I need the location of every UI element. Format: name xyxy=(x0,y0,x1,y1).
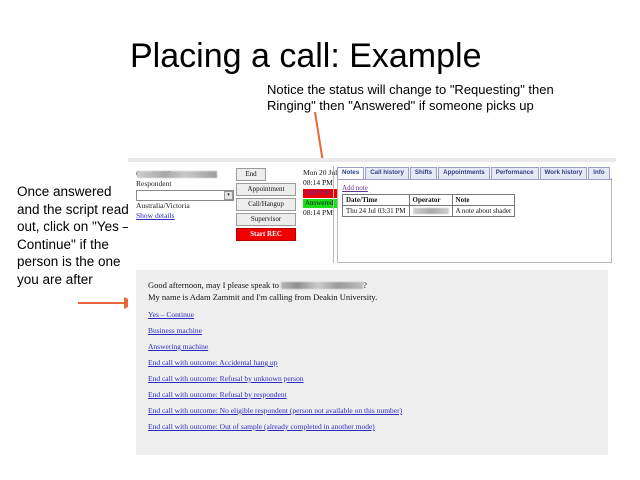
link-yes-continue[interactable]: Yes – Continue xyxy=(148,310,596,319)
respondent-select[interactable]: ▾ xyxy=(136,190,234,201)
cell-operator xyxy=(409,206,452,217)
call-hangup-button[interactable]: Call/Hangup xyxy=(236,198,296,211)
table-row[interactable]: Thu 24 Jul 03:31 PM A note about shader xyxy=(343,206,515,217)
app-top-strip xyxy=(128,158,616,162)
operator-redacted xyxy=(413,208,449,214)
script-line-2: My name is Adam Zammit and I'm calling f… xyxy=(148,292,596,304)
supervisor-button[interactable]: Supervisor xyxy=(236,213,296,226)
callout-status-note: Notice the status will change to "Reques… xyxy=(267,82,597,114)
tab-work-history[interactable]: Work history xyxy=(540,167,588,179)
callout-continue-note: Once answered and the script read out, c… xyxy=(17,183,135,288)
cell-datetime: Thu 24 Jul 03:31 PM xyxy=(343,206,410,217)
panel-divider xyxy=(333,166,334,263)
script-outcome-links: Yes – Continue Business machine Answerin… xyxy=(148,310,596,431)
respondent-name-redacted-inline xyxy=(281,282,363,289)
link-business-machine[interactable]: Business machine xyxy=(148,326,596,335)
link-answering-machine[interactable]: Answering machine xyxy=(148,342,596,351)
appointment-button[interactable]: Appointment xyxy=(236,183,296,196)
cell-note: A note about shader xyxy=(452,206,515,217)
script-line-1-suffix: ? xyxy=(363,280,367,290)
tab-shifts[interactable]: Shifts xyxy=(410,167,437,179)
script-line-1-prefix: Good afternoon, may I please speak to xyxy=(148,280,281,290)
embedded-app-screenshot: Case id 113 Respondent ▾ Australia/Victo… xyxy=(128,158,616,463)
link-outcome-accidental-hangup[interactable]: End call with outcome: Accidental hang u… xyxy=(148,358,596,367)
script-line-1: Good afternoon, may I please speak to ? xyxy=(148,280,596,292)
call-control-buttons: End Appointment Call/Hangup Supervisor S… xyxy=(236,168,296,243)
arrow-to-continue-line xyxy=(78,302,126,304)
notes-tab-panel: Add note Date/Time Operator Note Thu 24 … xyxy=(337,179,612,263)
tab-appointments[interactable]: Appointments xyxy=(438,167,490,179)
link-outcome-refusal-unknown[interactable]: End call with outcome: Refusal by unknow… xyxy=(148,374,596,383)
tab-bar-filler xyxy=(611,167,612,179)
notes-table-header-row: Date/Time Operator Note xyxy=(343,195,515,206)
tab-notes[interactable]: Notes xyxy=(337,167,364,179)
tab-call-history[interactable]: Call history xyxy=(365,167,409,179)
page-title: Placing a call: Example xyxy=(130,36,482,76)
tab-bar: Notes Call history Shifts Appointments P… xyxy=(337,167,612,179)
script-panel: Good afternoon, may I please speak to ? … xyxy=(136,270,608,455)
end-button[interactable]: End xyxy=(236,168,266,181)
col-operator: Operator xyxy=(409,195,452,206)
col-datetime: Date/Time xyxy=(343,195,410,206)
chevron-down-icon[interactable]: ▾ xyxy=(224,191,233,200)
col-note: Note xyxy=(452,195,515,206)
respondent-name-redacted xyxy=(137,171,217,178)
add-note-link[interactable]: Add note xyxy=(342,184,368,192)
slide: Placing a call: Example Notice the statu… xyxy=(0,0,640,480)
start-rec-button[interactable]: Start REC xyxy=(236,228,296,241)
tab-performance[interactable]: Performance xyxy=(491,167,539,179)
tab-info[interactable]: Info xyxy=(588,167,609,179)
link-outcome-no-eligible-respondent[interactable]: End call with outcome: No eligible respo… xyxy=(148,406,596,415)
link-outcome-refusal-respondent[interactable]: End call with outcome: Refusal by respon… xyxy=(148,390,596,399)
link-outcome-out-of-sample[interactable]: End call with outcome: Out of sample (al… xyxy=(148,422,596,431)
notes-table: Date/Time Operator Note Thu 24 Jul 03:31… xyxy=(342,194,515,217)
